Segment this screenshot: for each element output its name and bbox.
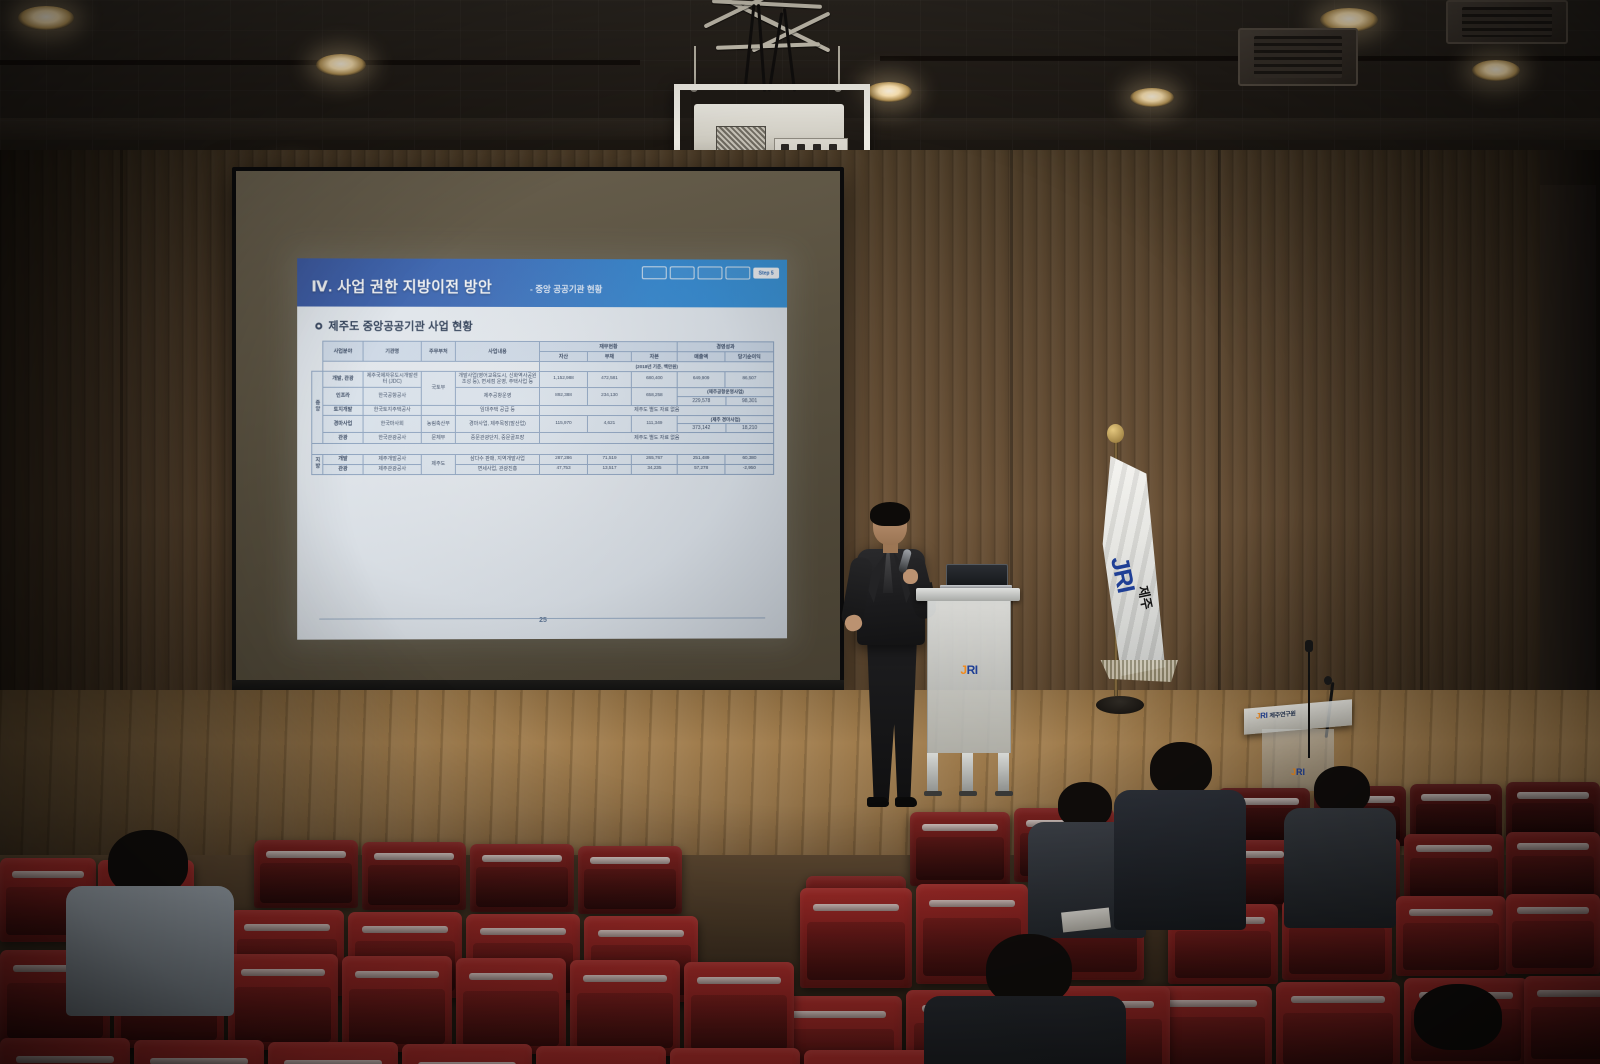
cell-business: 경마사업, 제주목장(말산업) <box>455 415 539 433</box>
projection-screen: Ⅳ. 사업 권한 지방이전 방안 - 중앙 공공기관 현황 Step 5 제주도… <box>232 167 844 695</box>
cell-assets: 115,970 <box>540 415 588 433</box>
section-label-central: 중앙 <box>312 371 323 443</box>
podium-body: JRI <box>927 601 1011 753</box>
slide-footer: 25 <box>297 608 787 627</box>
presenter-hair <box>870 502 910 526</box>
table-spacer-row <box>312 443 774 454</box>
flag-base <box>1096 696 1144 714</box>
cell-capital: 111,349 <box>631 415 677 433</box>
cell-net-income: 18,210 <box>726 424 773 432</box>
cell-business: 삼다수 판매, 지역개발사업 <box>455 454 539 464</box>
cell-business: 중문관광단지, 중문골프장 <box>455 433 539 443</box>
table-row: 인프라 한국공항공사 제주공항운영 892,388 234,130 658,25… <box>312 387 774 405</box>
cell-ministry: 국토부 <box>421 371 455 405</box>
cell-capital: 265,767 <box>631 454 677 464</box>
seat <box>456 958 566 1054</box>
attendee-body <box>1284 808 1396 928</box>
th-group-performance: 경영성과 <box>677 342 773 352</box>
cell-liabilities: 13,517 <box>587 464 631 474</box>
th-revenue: 매출액 <box>677 352 725 362</box>
cell-org: 한국관광공사 <box>363 433 421 443</box>
laptop <box>940 564 1006 590</box>
cell-field: 개발 <box>323 454 363 464</box>
cell-liabilities: 71,519 <box>587 454 631 464</box>
podium: JRI <box>916 588 1020 800</box>
cell-org: 제주국제자유도시개발센터 (JDC) <box>363 371 421 387</box>
step-box-2 <box>670 266 695 279</box>
cell-revenue: 251,489 <box>677 454 725 464</box>
cell-assets: 1,152,988 <box>540 371 588 387</box>
attendee <box>910 934 1140 1064</box>
slide-title: Ⅳ. 사업 권한 지방이전 방안 <box>311 275 492 296</box>
lectern-logo-text: RI <box>1260 711 1267 721</box>
cell-merged-note: 제주도 별도 자료 없음 <box>540 405 774 415</box>
attendee-head <box>1314 766 1370 814</box>
right-column <box>1540 185 1596 705</box>
ceiling-light <box>316 54 366 76</box>
cell-org: 한국공항공사 <box>363 387 421 405</box>
seat <box>342 956 452 1052</box>
seat <box>268 1042 398 1064</box>
table-group-header-row: 사업분야 기관명 주무부처 사업내용 재무현황 경영성과 <box>312 341 774 352</box>
cell-net-income: 98,301 <box>726 397 773 405</box>
podium-top <box>916 588 1020 601</box>
step-box-3 <box>698 266 723 279</box>
seat <box>362 842 466 910</box>
ceiling-light <box>1472 60 1520 81</box>
podium-logo-text: RI <box>967 663 978 677</box>
seat <box>684 962 794 1058</box>
cell-field: 개발, 관광 <box>323 371 363 387</box>
table-row: 관광 제주관광공사 면세사업, 관광진흥 47,753 13,517 34,23… <box>312 464 774 474</box>
cell-ministry: 제주도 <box>421 454 455 474</box>
th-net-income: 당기순이익 <box>725 352 774 362</box>
cell-org: 제주관광공사 <box>363 464 421 474</box>
cell-assets: 892,388 <box>540 387 588 405</box>
podium-legs <box>927 753 1009 797</box>
presenter-legs <box>865 641 919 801</box>
cell-revenue: 229,578 <box>678 397 726 405</box>
unit-note: (2018년 기준, 백만원) <box>540 362 774 372</box>
th-business: 사업내용 <box>455 341 539 361</box>
cell-revenue: 373,142 <box>678 424 726 432</box>
seat <box>570 960 680 1056</box>
seat <box>470 844 574 912</box>
seat <box>402 1044 532 1064</box>
cell-business: 임대주택 공급 등 <box>455 405 539 415</box>
seat <box>1396 896 1506 976</box>
cell-ministry <box>421 405 455 415</box>
cell-org: 한국마사회 <box>363 415 421 433</box>
microphone-head <box>1305 640 1313 652</box>
seat <box>1404 834 1504 904</box>
table-row: 중앙 개발, 관광 제주국제자유도시개발센터 (JDC) 국토부 개발사업(영어… <box>312 371 774 388</box>
attendee-body <box>924 996 1126 1064</box>
step-current-badge: Step 5 <box>753 268 779 279</box>
air-conditioner-vent <box>1238 28 1358 86</box>
screen-surface: Ⅳ. 사업 권한 지방이전 방안 - 중앙 공공기관 현황 Step 5 제주도… <box>236 171 840 686</box>
cell-business: 제주공항운영 <box>455 387 539 405</box>
microphone-stand <box>1306 648 1312 758</box>
table-row: 토지개발 한국토지주택공사 임대주택 공급 등 제주도 별도 자료 없음 <box>312 405 774 415</box>
cell-revenue: 649,909 <box>677 371 725 387</box>
public-institutions-table: 사업분야 기관명 주무부처 사업내용 재무현황 경영성과 자산 부채 자본 매출… <box>311 341 774 475</box>
cell-revenue: 57,278 <box>677 464 725 474</box>
bullet-heading-text: 제주도 중앙공공기관 사업 현황 <box>328 318 473 334</box>
th-org: 기관명 <box>363 341 421 361</box>
podium-logo: JRI <box>928 663 1010 677</box>
cell-capital: 680,400 <box>631 371 677 387</box>
attendee <box>52 830 252 1010</box>
cell-field: 관광 <box>323 464 363 474</box>
slide-bullet-heading: 제주도 중앙공공기관 사업 현황 <box>315 318 787 335</box>
seat <box>800 888 912 988</box>
cell-assets: 287,286 <box>540 454 588 464</box>
cell-org: 한국토지주택공사 <box>363 405 421 415</box>
cell-ministry: 농림축산부 <box>421 415 455 433</box>
cell-field: 경마사업 <box>323 415 363 433</box>
table-unit-row: (2018년 기준, 백만원) <box>312 361 774 371</box>
bullet-dot-icon <box>315 322 322 329</box>
ceiling-light <box>18 6 74 30</box>
cell-capital: 658,258 <box>631 388 677 406</box>
cell-sub-note: (제주 경마사업) <box>678 416 773 425</box>
cell-business: 개발사업(영어교육도시, 신화역사공원 조성 등), 면세점 운영, 주택사업 … <box>455 371 539 387</box>
slide-subtitle: - 중앙 공공기관 현황 <box>530 283 602 295</box>
seat <box>670 1048 800 1064</box>
flag-finial <box>1107 424 1124 443</box>
cell-net-income: 86,507 <box>725 371 774 387</box>
cell-field: 인프라 <box>323 387 363 405</box>
section-label-local: 지방 <box>312 454 323 474</box>
th-group-financial: 재무현황 <box>540 341 678 351</box>
cell-field: 토지개발 <box>323 405 363 415</box>
step-indicator: Step 5 <box>642 266 779 279</box>
cell-org: 제주개발공사 <box>363 454 421 464</box>
attendee-head <box>1414 984 1502 1050</box>
attendee-body <box>1114 790 1246 930</box>
table-row: 지방 개발 제주개발공사 제주도 삼다수 판매, 지역개발사업 287,286 … <box>312 454 774 464</box>
step-box-4 <box>725 267 750 280</box>
cell-field: 관광 <box>323 433 363 443</box>
ceiling-light <box>1130 88 1174 107</box>
seat <box>1506 894 1600 974</box>
cell-ministry: 문체부 <box>421 433 455 443</box>
th-field: 사업분야 <box>323 341 363 361</box>
th-ministry: 주무부처 <box>421 341 455 361</box>
cell-liabilities: 472,581 <box>587 371 631 387</box>
flag-fringe <box>1092 660 1178 682</box>
seat <box>134 1040 264 1064</box>
table-row: 경마사업 한국마사회 농림축산부 경마사업, 제주목장(말산업) 115,970… <box>312 415 774 433</box>
ceiling-light <box>866 82 912 102</box>
slide-header: Ⅳ. 사업 권한 지방이전 방안 - 중앙 공공기관 현황 Step 5 <box>297 258 787 307</box>
seat <box>0 1038 130 1064</box>
cell-net-income: -2,950 <box>725 464 774 474</box>
seat <box>578 846 682 914</box>
audience-seating <box>0 800 1600 1064</box>
th-capital: 자본 <box>631 352 677 362</box>
cell-liabilities: 4,621 <box>587 415 631 433</box>
slide-page-number: 25 <box>539 617 547 624</box>
cell-assets: 47,753 <box>540 464 588 474</box>
attendee-body <box>66 886 234 1016</box>
seat <box>910 812 1010 886</box>
seat <box>1506 832 1600 902</box>
cell-sub-note: (제주공항운영사업) <box>678 388 773 397</box>
th-liabilities: 부채 <box>587 352 631 362</box>
table-row: 관광 한국관광공사 문체부 중문관광단지, 중문골프장 제주도 별도 자료 없음 <box>312 433 774 443</box>
seat <box>254 840 358 908</box>
step-box-1 <box>642 266 667 279</box>
cell-business: 면세사업, 관광진흥 <box>455 464 539 474</box>
attendee <box>1110 742 1250 922</box>
projector-cables <box>740 4 810 96</box>
cell-merged-note: 제주도 별도 자료 없음 <box>540 433 774 443</box>
presentation-slide: Ⅳ. 사업 권한 지방이전 방안 - 중앙 공공기관 현황 Step 5 제주도… <box>297 258 787 639</box>
cell-net-income: 60,380 <box>725 454 774 464</box>
attendee <box>1284 766 1404 916</box>
th-assets: 자산 <box>540 352 588 362</box>
cell-capital: 34,235 <box>631 464 677 474</box>
organization-flag: JRI 제주 <box>1062 420 1182 720</box>
auditorium-scene: Ⅳ. 사업 권한 지방이전 방안 - 중앙 공공기관 현황 Step 5 제주도… <box>0 0 1600 1064</box>
attendee-head <box>1150 742 1212 796</box>
air-conditioner-vent <box>1446 0 1568 44</box>
attendee <box>1344 984 1584 1064</box>
lectern-microphone-head <box>1324 676 1332 685</box>
seat <box>536 1046 666 1064</box>
cell-liabilities: 234,130 <box>587 388 631 406</box>
